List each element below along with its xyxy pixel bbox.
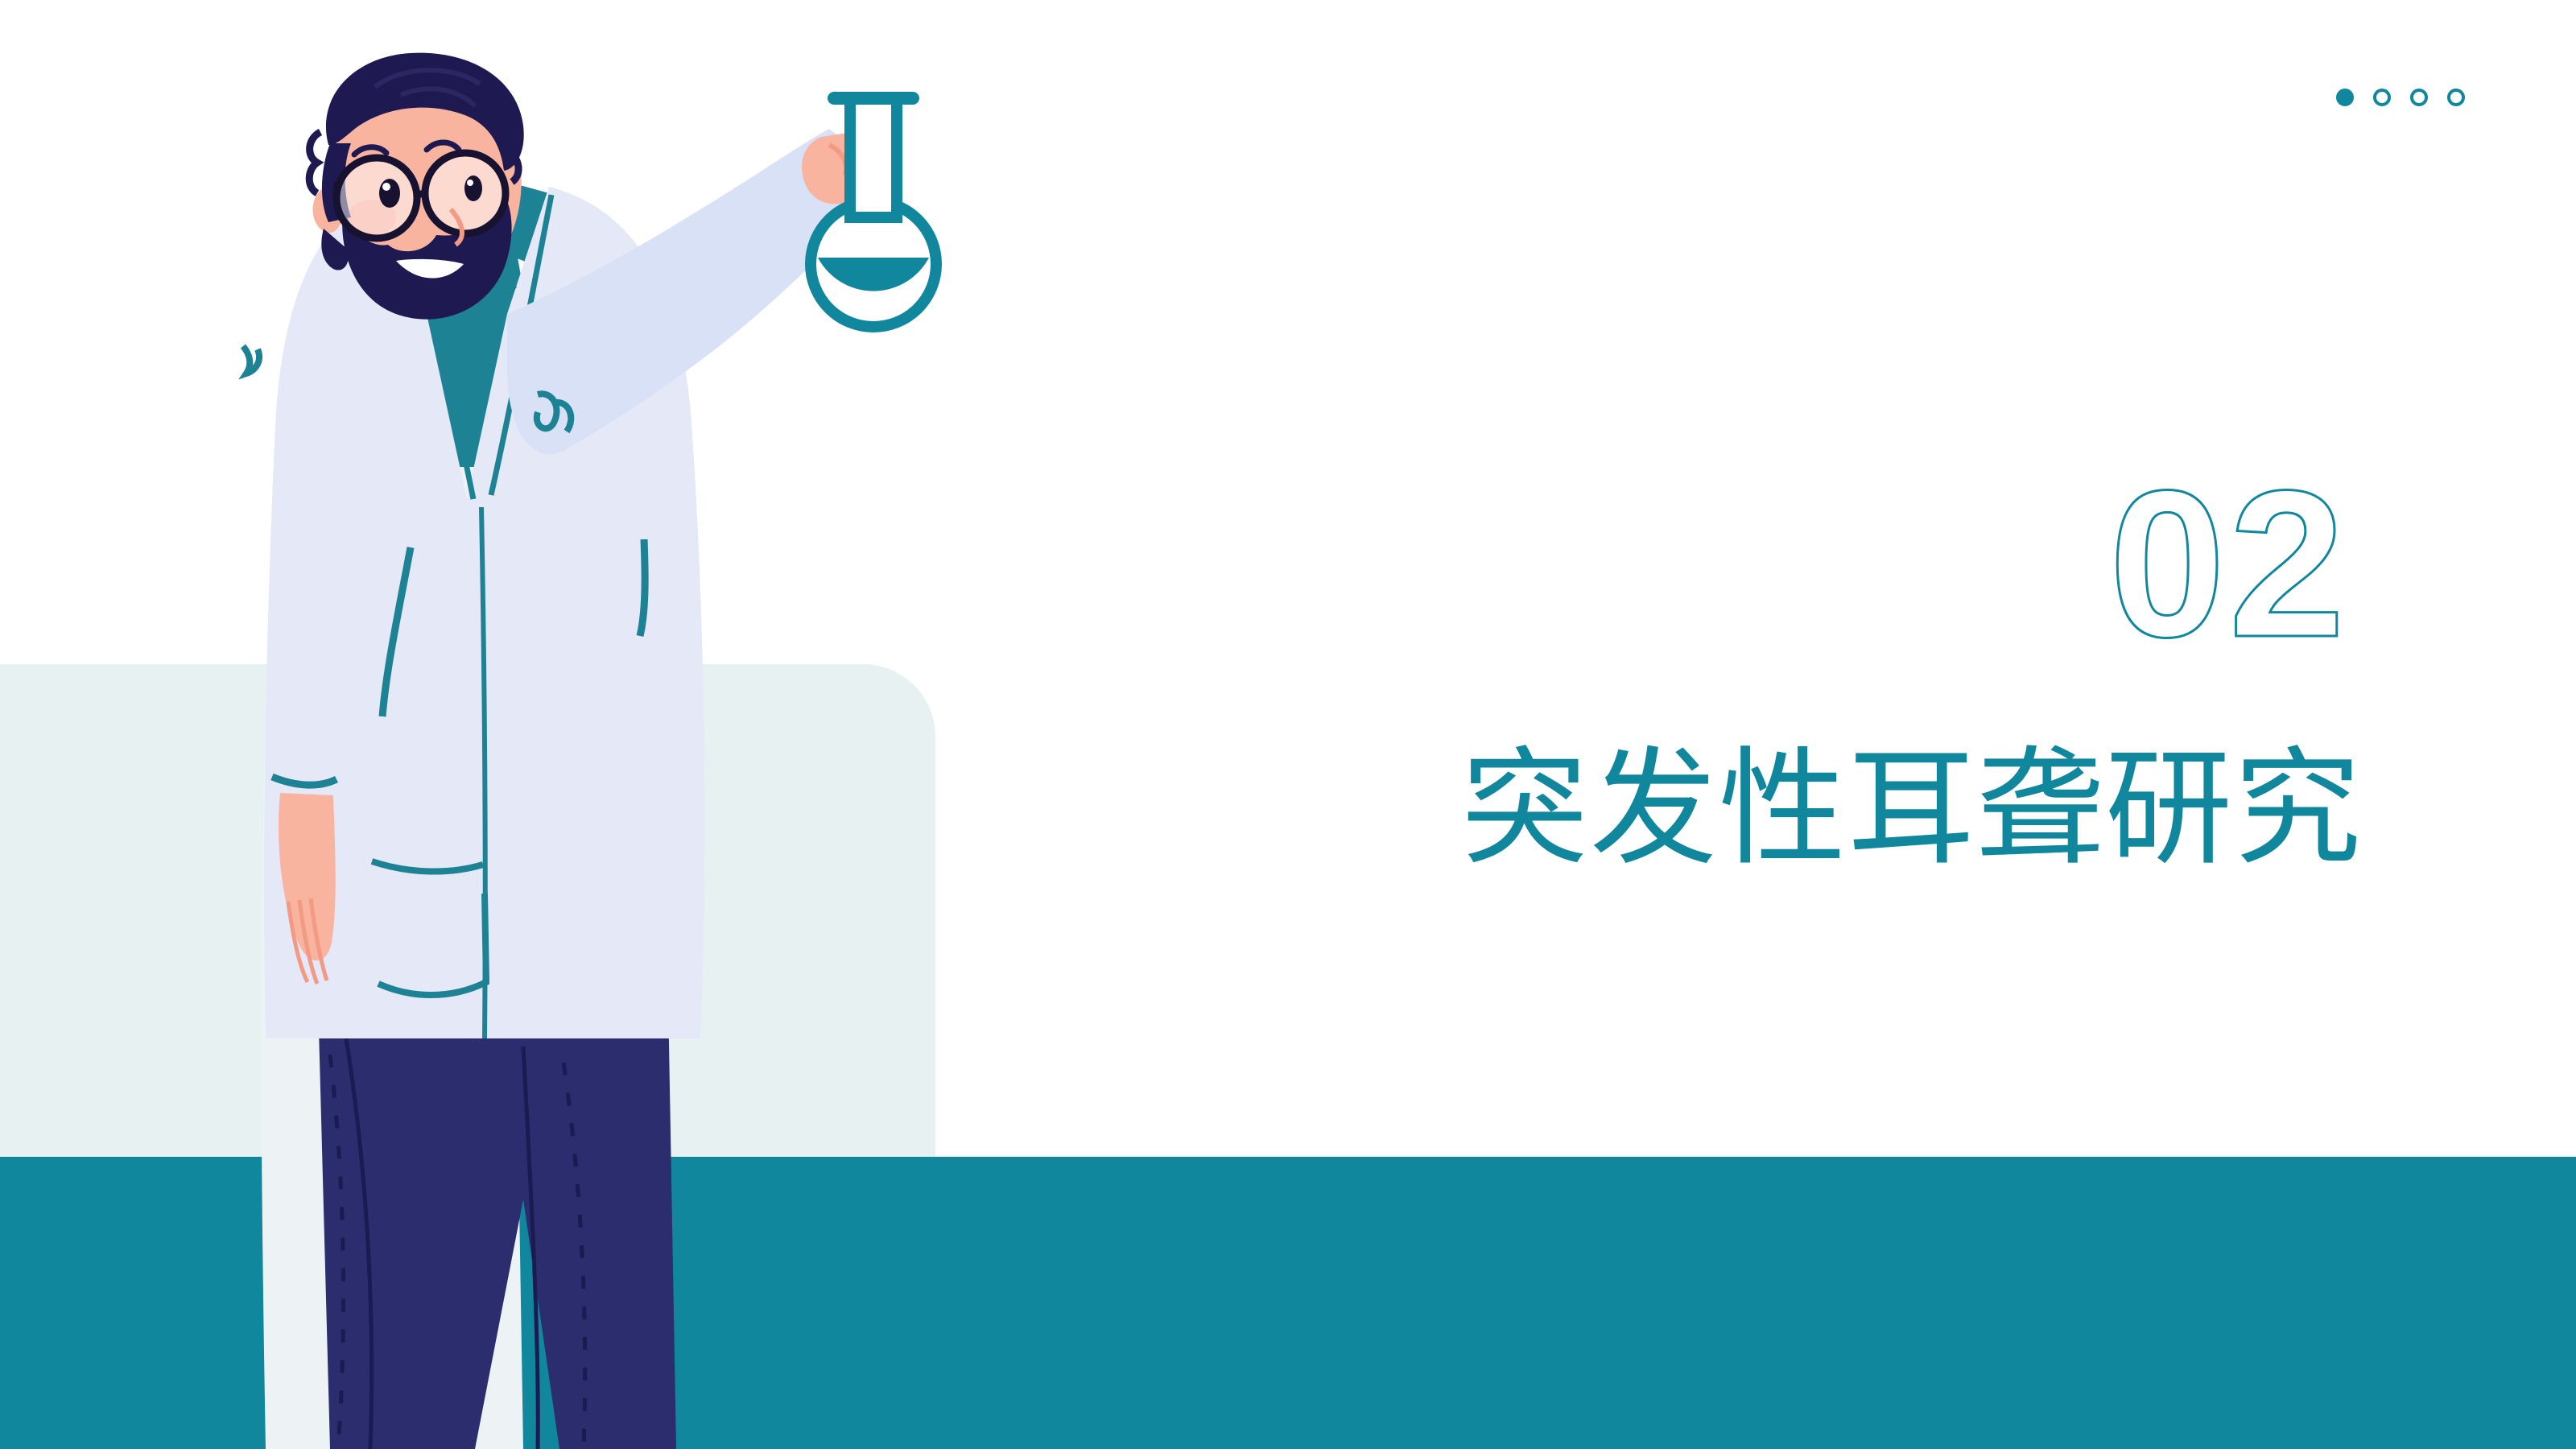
slide-root: 02 突发性耳聋研究 <box>0 0 2576 1449</box>
hanging-arm <box>243 346 346 984</box>
pagination-dot-1[interactable] <box>2336 89 2354 106</box>
scientist-illustration <box>185 48 1135 1449</box>
pagination-dots[interactable] <box>2336 89 2465 106</box>
section-title: 突发性耳聋研究 <box>1461 737 2395 883</box>
section-number-outline: 02 <box>2109 471 2399 656</box>
section-number-text: 02 <box>2109 448 2348 681</box>
pagination-dot-3[interactable] <box>2410 89 2428 106</box>
pagination-dot-2[interactable] <box>2373 89 2391 106</box>
pagination-dot-4[interactable] <box>2447 89 2465 106</box>
